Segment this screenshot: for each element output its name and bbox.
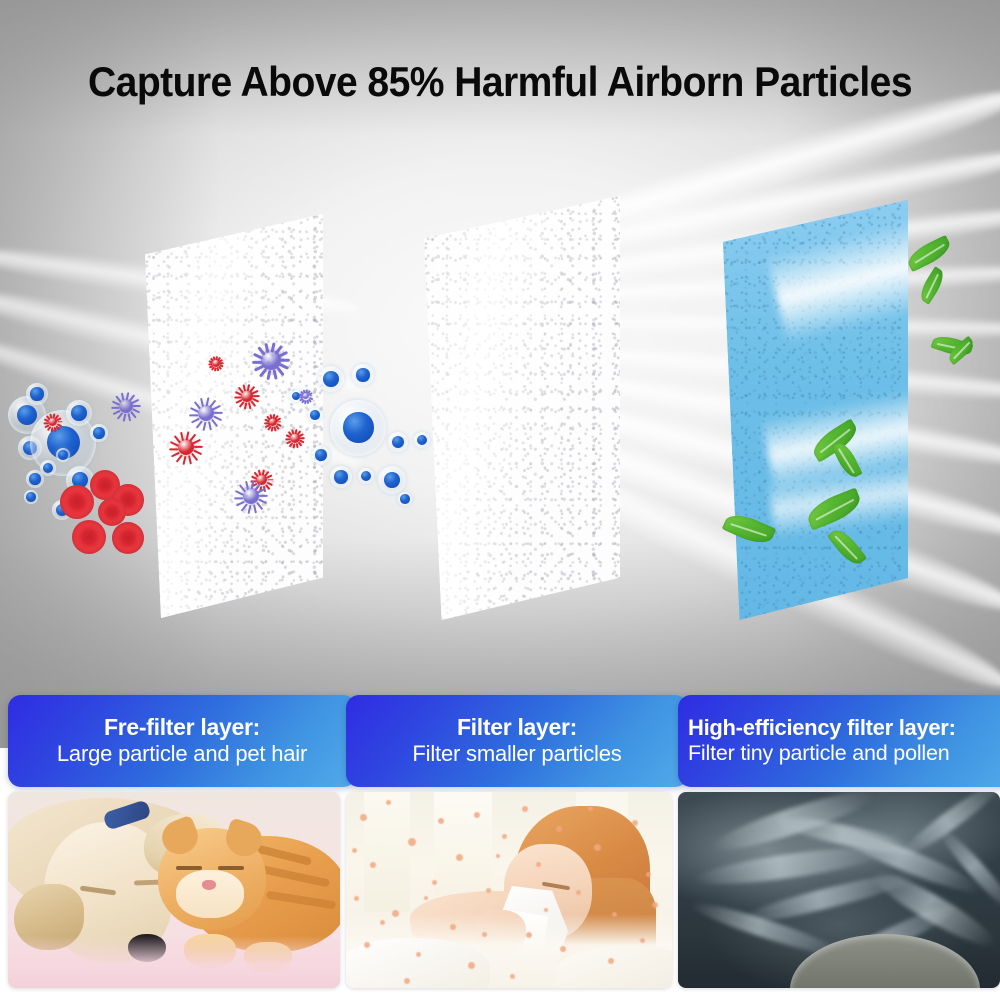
caption-card-subtitle: Filter smaller particles — [412, 741, 621, 767]
pollen-dot — [404, 978, 410, 984]
caption-card-filter[interactable]: Filter layer: Filter smaller particles — [346, 695, 688, 787]
caption-card-title: High-efficiency filter layer: — [688, 716, 956, 741]
caption-card-subtitle: Large particle and pet hair — [57, 741, 307, 767]
infographic-page: Capture Above 85% Harmful Airborn Partic… — [0, 0, 1000, 1000]
pollen-dot — [456, 854, 463, 861]
pollen-dot — [360, 814, 367, 821]
pollen-dot — [544, 908, 548, 912]
pollen-dot — [352, 848, 357, 853]
pollen-dot — [432, 880, 437, 885]
pollen-dot — [632, 820, 638, 826]
pollen-dot — [474, 812, 480, 818]
hero-section: Capture Above 85% Harmful Airborn Partic… — [0, 0, 1000, 748]
virus-particle — [44, 413, 61, 430]
caption-card-subtitle: Filter tiny particle and pollen — [688, 741, 950, 766]
caption-card-title: Filter layer: — [457, 715, 577, 741]
pollen-dot — [588, 806, 593, 811]
mid-filter-panel — [424, 196, 620, 620]
hepa-filter-panel — [723, 200, 908, 620]
pollen-dot — [482, 932, 487, 937]
caption-card-row: Fre-filter layer: Large particle and pet… — [0, 695, 1000, 787]
page-title: Capture Above 85% Harmful Airborn Partic… — [35, 60, 965, 104]
pollen-dot — [608, 958, 614, 964]
pollen-dot — [646, 872, 651, 877]
pollen-dot — [652, 902, 658, 908]
pollen-dot — [438, 818, 444, 824]
virus-particle — [113, 393, 139, 419]
pollen-dot — [468, 962, 475, 969]
pollen-dot — [380, 920, 385, 925]
pollen-dot — [560, 946, 566, 952]
virus-particle — [236, 385, 258, 407]
pollen-dot — [510, 974, 515, 979]
virus-particle — [209, 356, 223, 370]
allergy-photo[interactable] — [346, 792, 672, 988]
pollen-dot — [408, 838, 416, 846]
pollen-dot — [416, 952, 421, 957]
pollen-dot — [640, 938, 645, 943]
pollen-dot — [594, 844, 601, 851]
pollen-dot — [486, 888, 491, 893]
caption-card-title: Fre-filter layer: — [104, 715, 260, 741]
pollen-dot — [502, 834, 507, 839]
pre-filter-panel — [145, 214, 323, 618]
photo-row — [0, 792, 1000, 988]
virus-particle — [286, 429, 304, 447]
pollen-dot — [370, 862, 376, 868]
pollen-dot — [522, 806, 528, 812]
pollen-dot — [612, 912, 617, 917]
pollen-dot — [496, 854, 500, 858]
virus-particle — [265, 414, 280, 429]
pollen-dot — [576, 890, 581, 895]
caption-card-high-efficiency-filter[interactable]: High-efficiency filter layer: Filter tin… — [678, 695, 1000, 787]
virus-particle — [254, 343, 288, 377]
smoke-photo[interactable] — [678, 792, 1000, 988]
caption-card-pre-filter[interactable]: Fre-filter layer: Large particle and pet… — [8, 695, 356, 787]
pollen-dot — [536, 862, 541, 867]
pollen-dot — [450, 924, 456, 930]
pollen-dot — [556, 826, 562, 832]
pollen-dot — [354, 896, 359, 901]
pollen-dot — [424, 896, 428, 900]
virus-particle — [171, 432, 201, 462]
pollen-dot — [386, 800, 391, 805]
virus-particle — [191, 398, 221, 428]
pollen-dot — [526, 932, 532, 938]
virus-particle — [236, 481, 266, 511]
pets-photo[interactable] — [8, 792, 340, 988]
pollen-dot — [392, 910, 399, 917]
virus-particle — [299, 389, 312, 402]
pollen-dot — [364, 942, 370, 948]
